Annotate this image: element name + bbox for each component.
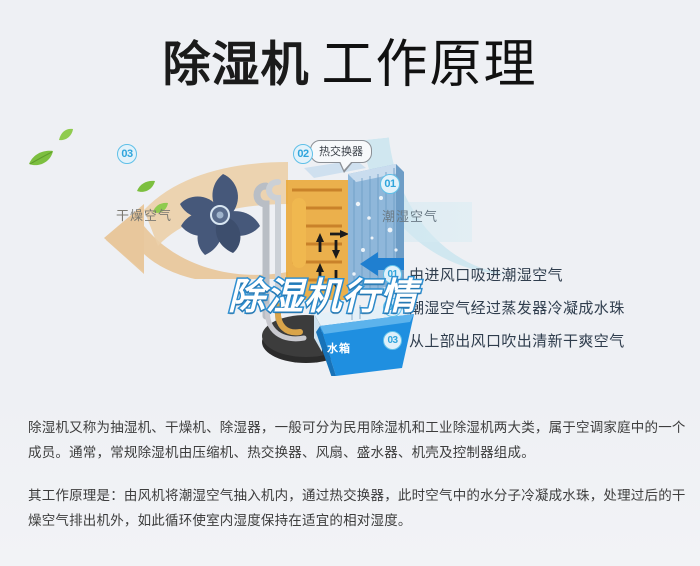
leaf-icon [28, 150, 54, 173]
step-text-01: 由进风口吸进潮湿空气 [409, 264, 563, 285]
body-copy: 除湿机又称为抽湿机、干燥机、除湿器，一般可分为民用除湿机和工业除湿机两大类，属于… [28, 415, 688, 533]
step-badge-03: 03 [383, 331, 402, 350]
heat-exchanger-callout: 热交换器 [310, 140, 372, 163]
list-item: 02 潮湿空气经过蒸发器冷凝成水珠 [383, 291, 683, 324]
body-paragraph-2: 其工作原理是：由风机将潮湿空气抽入机内，通过热交换器，此时空气中的水分子冷凝成水… [28, 483, 688, 533]
step-badge-01: 01 [383, 265, 402, 284]
dry-air-label: 干燥空气 [116, 205, 172, 224]
step-text-03: 从上部出风口吹出清新干爽空气 [409, 330, 625, 351]
title-light-part: 工作原理 [322, 36, 538, 94]
step-text-02: 潮湿空气经过蒸发器冷凝成水珠 [409, 297, 625, 318]
diagram-badge-01: 01 [380, 174, 400, 194]
step-badge-02: 02 [383, 298, 402, 317]
leaf-icon [58, 128, 74, 147]
steps-list: 01 由进风口吸进潮湿空气 02 潮湿空气经过蒸发器冷凝成水珠 03 从上部出风… [383, 258, 683, 357]
list-item: 03 从上部出风口吹出清新干爽空气 [383, 324, 683, 357]
body-paragraph-1: 除湿机又称为抽湿机、干燥机、除湿器，一般可分为民用除湿机和工业除湿机两大类，属于… [28, 415, 688, 465]
leaf-icon [136, 180, 156, 199]
list-item: 01 由进风口吸进潮湿空气 [383, 258, 683, 291]
page-root: 除湿机工作原理 [0, 0, 700, 566]
diagram-badge-03: 03 [117, 144, 137, 164]
humid-air-label: 潮湿空气 [382, 206, 438, 225]
page-title: 除湿机工作原理 [0, 22, 700, 97]
diagram-badge-02: 02 [293, 144, 313, 164]
water-tank-label: 水箱 [327, 340, 351, 356]
heat-exchanger-label: 热交换器 [310, 140, 372, 163]
title-bold-part: 除湿机 [162, 39, 309, 92]
